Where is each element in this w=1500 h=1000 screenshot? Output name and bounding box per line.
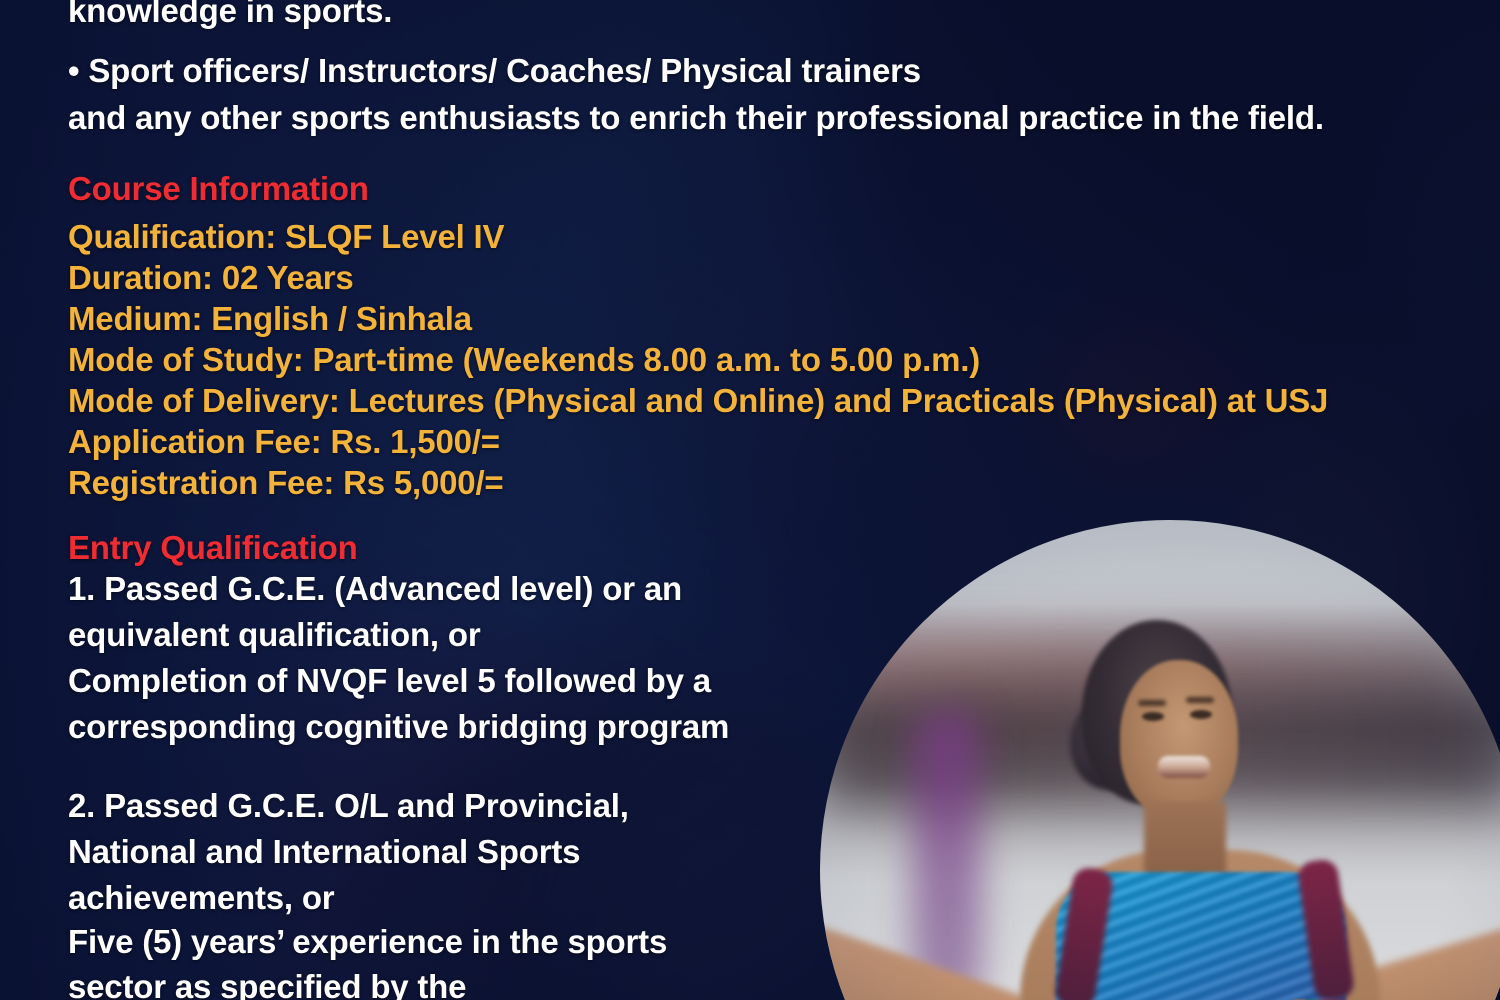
course-information-heading: Course Information xyxy=(68,172,369,205)
course-info-qualification: Qualification: SLQF Level IV xyxy=(68,220,504,253)
course-info-medium: Medium: English / Sinhala xyxy=(68,302,472,335)
course-info-registration-fee: Registration Fee: Rs 5,000/= xyxy=(68,466,504,499)
course-info-mode-of-study: Mode of Study: Part-time (Weekends 8.00 … xyxy=(68,343,980,376)
course-info-application-fee: Application Fee: Rs. 1,500/= xyxy=(68,425,500,458)
intro-bullet-line: • Sport officers/ Instructors/ Coaches/ … xyxy=(68,54,921,87)
entry-item2-line1: 2. Passed G.C.E. O/L and Provincial, xyxy=(68,789,629,822)
entry-item2-line3: achievements, or xyxy=(68,881,334,914)
poster-canvas: SRI LANKA ATHLETICS 2022 601 knowledge i… xyxy=(0,0,1500,1000)
entry-qualification-heading: Entry Qualification xyxy=(68,531,358,564)
entry-item2-line2: National and International Sports xyxy=(68,835,580,868)
course-info-mode-of-delivery: Mode of Delivery: Lectures (Physical and… xyxy=(68,384,1328,417)
course-info-duration: Duration: 02 Years xyxy=(68,261,354,294)
entry-item2-line5: sector as specified by the xyxy=(68,970,466,1000)
entry-item2-line4: Five (5) years’ experience in the sports xyxy=(68,925,667,958)
entry-item1-line2: equivalent qualification, or xyxy=(68,618,480,651)
entry-item1-line4: corresponding cognitive bridging program xyxy=(68,710,729,743)
entry-item1-line3: Completion of NVQF level 5 followed by a xyxy=(68,664,711,697)
intro-cut-line: knowledge in sports. xyxy=(68,0,392,27)
entry-item1-line1: 1. Passed G.C.E. (Advanced level) or an xyxy=(68,572,682,605)
intro-bullet-continuation: and any other sports enthusiasts to enri… xyxy=(68,101,1324,134)
poster-text-column: knowledge in sports. • Sport officers/ I… xyxy=(0,0,1500,1000)
